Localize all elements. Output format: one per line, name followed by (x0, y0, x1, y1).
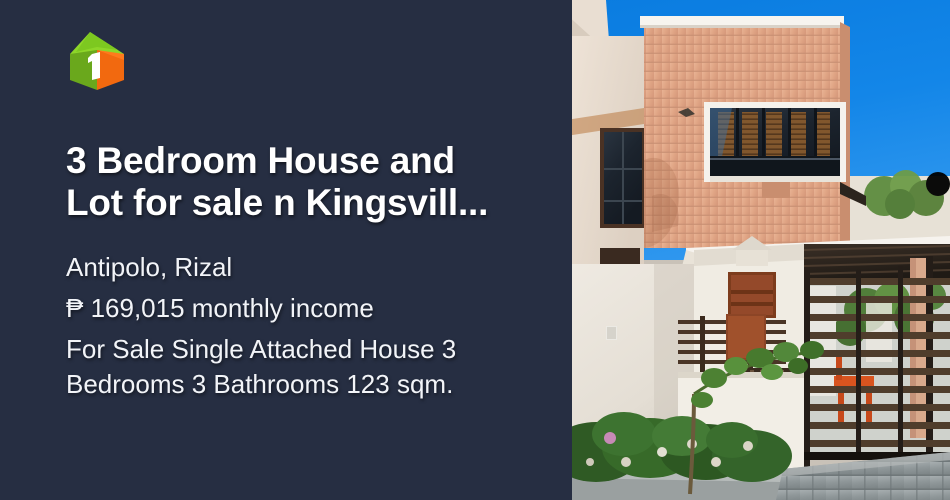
listing-location: Antipolo, Rizal (66, 250, 546, 285)
info-panel: 3 Bedroom House and Lot for sale n Kings… (0, 0, 572, 500)
listing-description: For Sale Single Attached House 3 Bedroom… (66, 332, 546, 402)
house-logo-icon[interactable] (66, 28, 128, 94)
property-photo-illustration (566, 0, 950, 500)
listing-text-block: 3 Bedroom House and Lot for sale n Kings… (66, 140, 546, 402)
house-logo-svg (66, 28, 128, 94)
property-photo (566, 0, 950, 500)
listing-card: 3 Bedroom House and Lot for sale n Kings… (0, 0, 950, 500)
listing-price: ₱ 169,015 monthly income (66, 291, 546, 326)
page-title: 3 Bedroom House and Lot for sale n Kings… (66, 140, 546, 224)
